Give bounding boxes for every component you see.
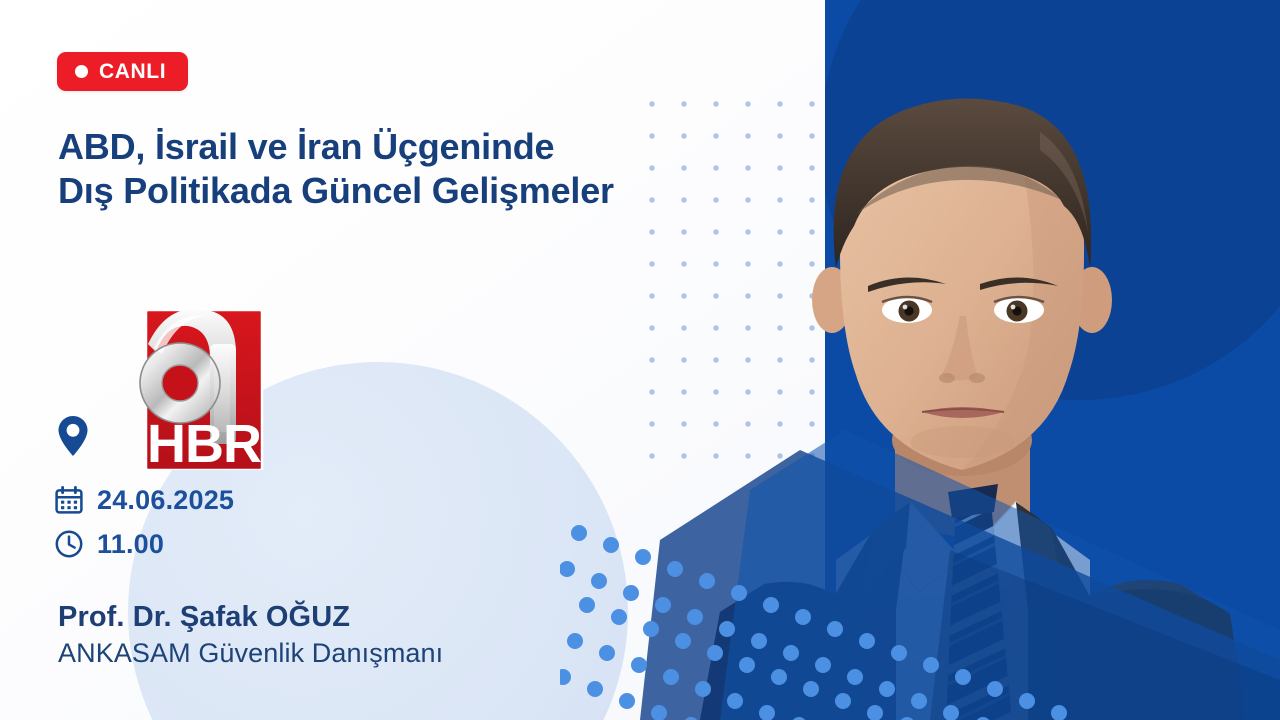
clock-icon <box>55 530 83 558</box>
event-time: 11.00 <box>97 531 164 558</box>
location-pin-icon <box>57 415 89 457</box>
ahaber-logo: HBR <box>118 282 280 470</box>
logo-wordmark: HBR <box>147 414 261 470</box>
page-title: ABD, İsrail ve İran Üçgeninde Dış Politi… <box>58 125 778 213</box>
speaker-role: ANKASAM Güvenlik Danışmanı <box>58 636 698 672</box>
event-time-row: 11.00 <box>55 522 385 566</box>
live-badge-label: CANLI <box>99 61 166 82</box>
live-dot-icon <box>75 65 88 78</box>
title-line-1: ABD, İsrail ve İran Üçgeninde <box>58 126 554 167</box>
event-date-row: 24.06.2025 <box>55 478 385 522</box>
event-announcement-poster: CANLI ABD, İsrail ve İran Üçgeninde Dış … <box>0 0 1280 720</box>
live-badge[interactable]: CANLI <box>57 52 188 91</box>
speaker-name: Prof. Dr. Şafak OĞUZ <box>58 598 698 636</box>
event-meta: 24.06.2025 11.00 <box>55 478 385 566</box>
calendar-icon <box>55 486 83 514</box>
speaker-info: Prof. Dr. Şafak OĞUZ ANKASAM Güvenlik Da… <box>58 598 698 672</box>
event-date: 24.06.2025 <box>97 487 234 514</box>
title-line-2: Dış Politikada Güncel Gelişmeler <box>58 169 778 213</box>
